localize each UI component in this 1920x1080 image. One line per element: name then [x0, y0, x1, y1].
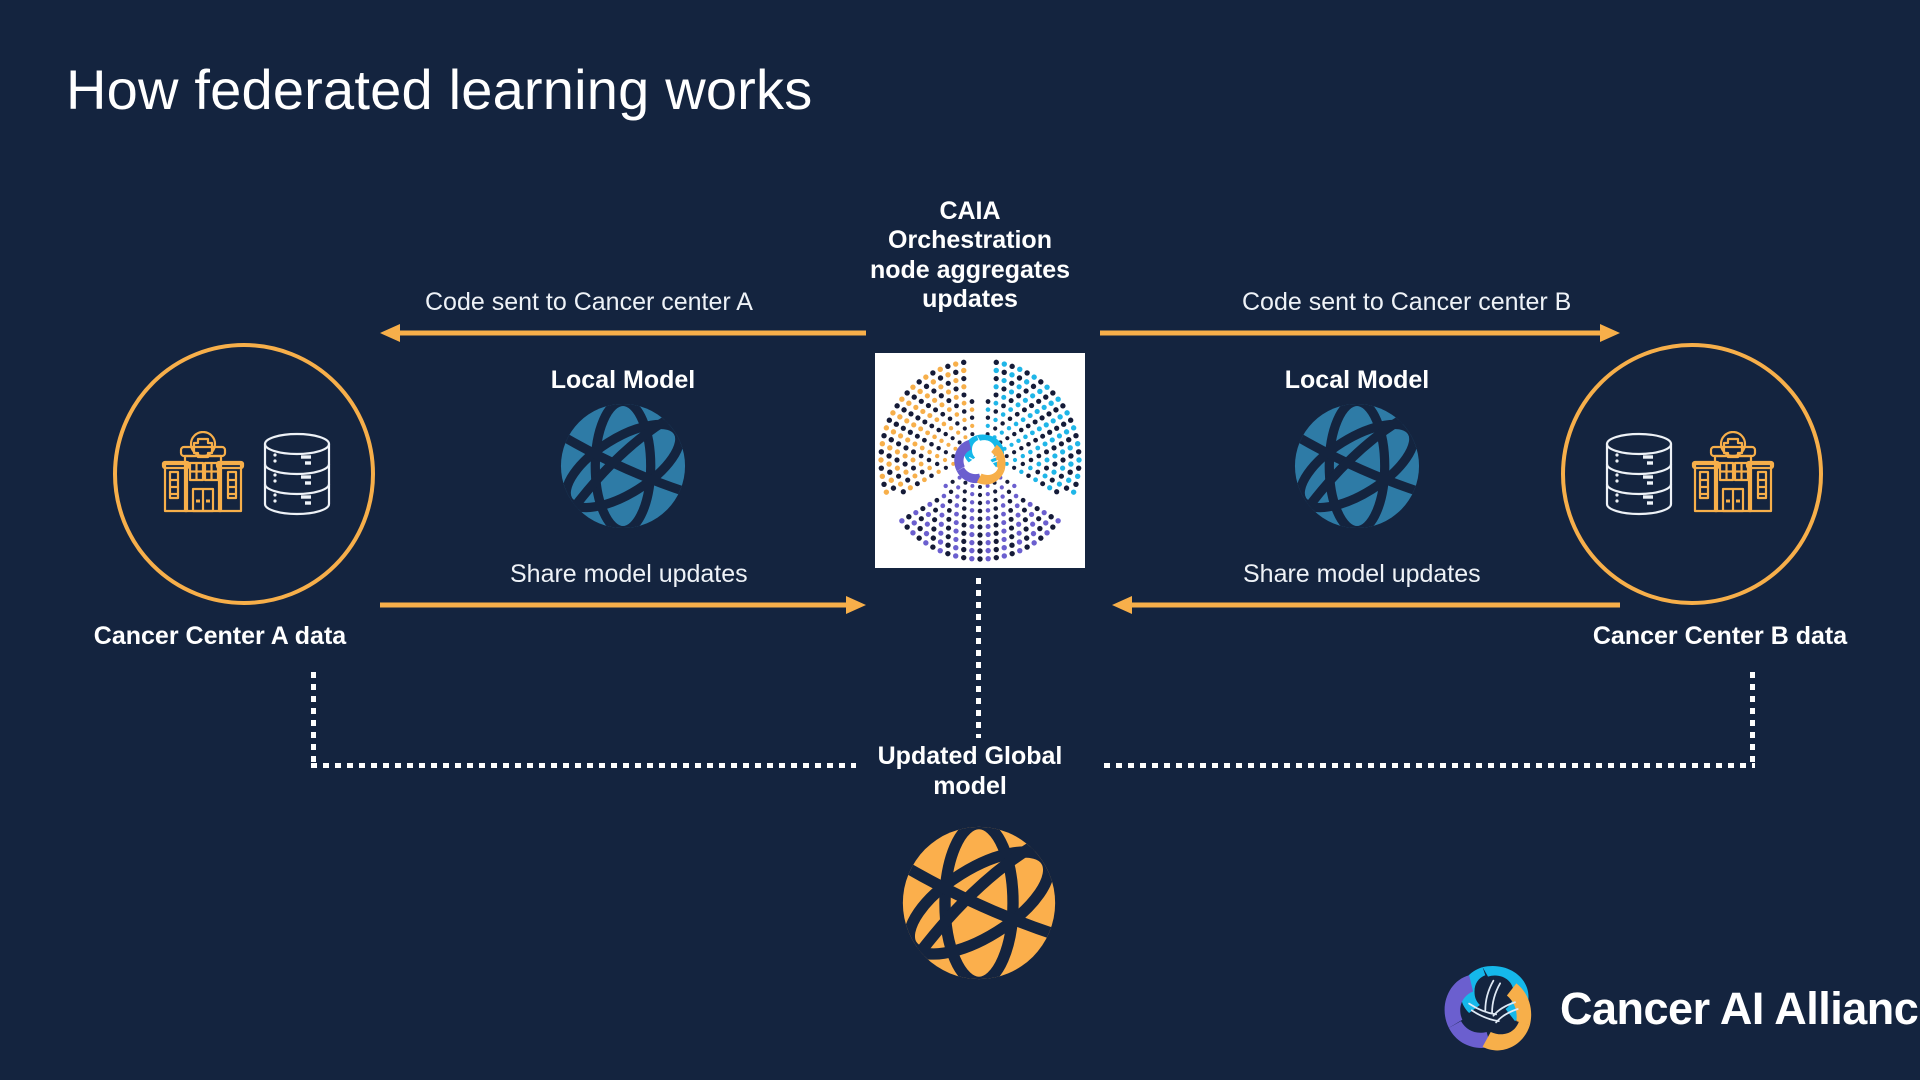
cancer-center-a-label: Cancer Center A data [55, 622, 385, 652]
dotted-line-node-to-global [976, 578, 981, 738]
dotted-line-a-vertical [311, 672, 316, 768]
dotted-line-a-horizontal [311, 763, 856, 768]
global-model-line-1: Updated Global [845, 742, 1095, 772]
caia-orchestration-heading: CAIA Orchestration node aggregates updat… [855, 197, 1085, 314]
caia-heading-line-1: CAIA [855, 197, 1085, 226]
caia-heading-line-3: node aggregates [855, 256, 1085, 285]
hospital-icon [155, 431, 251, 517]
arrow-label-code-to-a: Code sent to Cancer center A [425, 288, 753, 317]
arrow-share-from-b [1112, 594, 1620, 616]
caia-heading-line-4: updates [855, 285, 1085, 314]
arrow-share-from-a [380, 594, 866, 616]
dotted-line-b-horizontal [1104, 763, 1755, 768]
hospital-icon [1685, 431, 1781, 517]
local-model-a-label: Local Model [483, 366, 763, 396]
cancer-center-b-circle [1561, 343, 1823, 605]
caia-heading-line-2: Orchestration [855, 226, 1085, 255]
local-model-b-label: Local Model [1217, 366, 1497, 396]
arrow-label-share-from-a: Share model updates [510, 560, 748, 589]
globe-icon [898, 822, 1060, 984]
cancer-center-b-label: Cancer Center B data [1555, 622, 1885, 652]
caia-orchestration-node-logo [875, 353, 1085, 568]
page-title: How federated learning works [66, 57, 812, 122]
updated-global-model-label: Updated Global model [845, 742, 1095, 801]
brand-name: Cancer AI Alliance [1560, 983, 1920, 1035]
arrow-code-to-b [1100, 322, 1620, 344]
arrow-label-code-to-b: Code sent to Cancer center B [1242, 288, 1571, 317]
dotted-line-b-vertical [1750, 672, 1755, 768]
globe-icon [557, 400, 689, 532]
cancer-center-a-icons [117, 347, 371, 601]
arrow-code-to-a [380, 322, 866, 344]
cancer-center-a-circle [113, 343, 375, 605]
globe-icon [1291, 400, 1423, 532]
database-icon [1603, 431, 1675, 517]
three-hands-logo [1432, 955, 1544, 1063]
cancer-center-b-icons [1565, 347, 1819, 601]
slide-canvas: How federated learning works CAIA Orches… [0, 0, 1920, 1080]
arrow-label-share-from-b: Share model updates [1243, 560, 1481, 589]
global-model-line-2: model [845, 772, 1095, 802]
database-icon [261, 431, 333, 517]
brand-logo: Cancer AI Alliance [1432, 955, 1920, 1063]
